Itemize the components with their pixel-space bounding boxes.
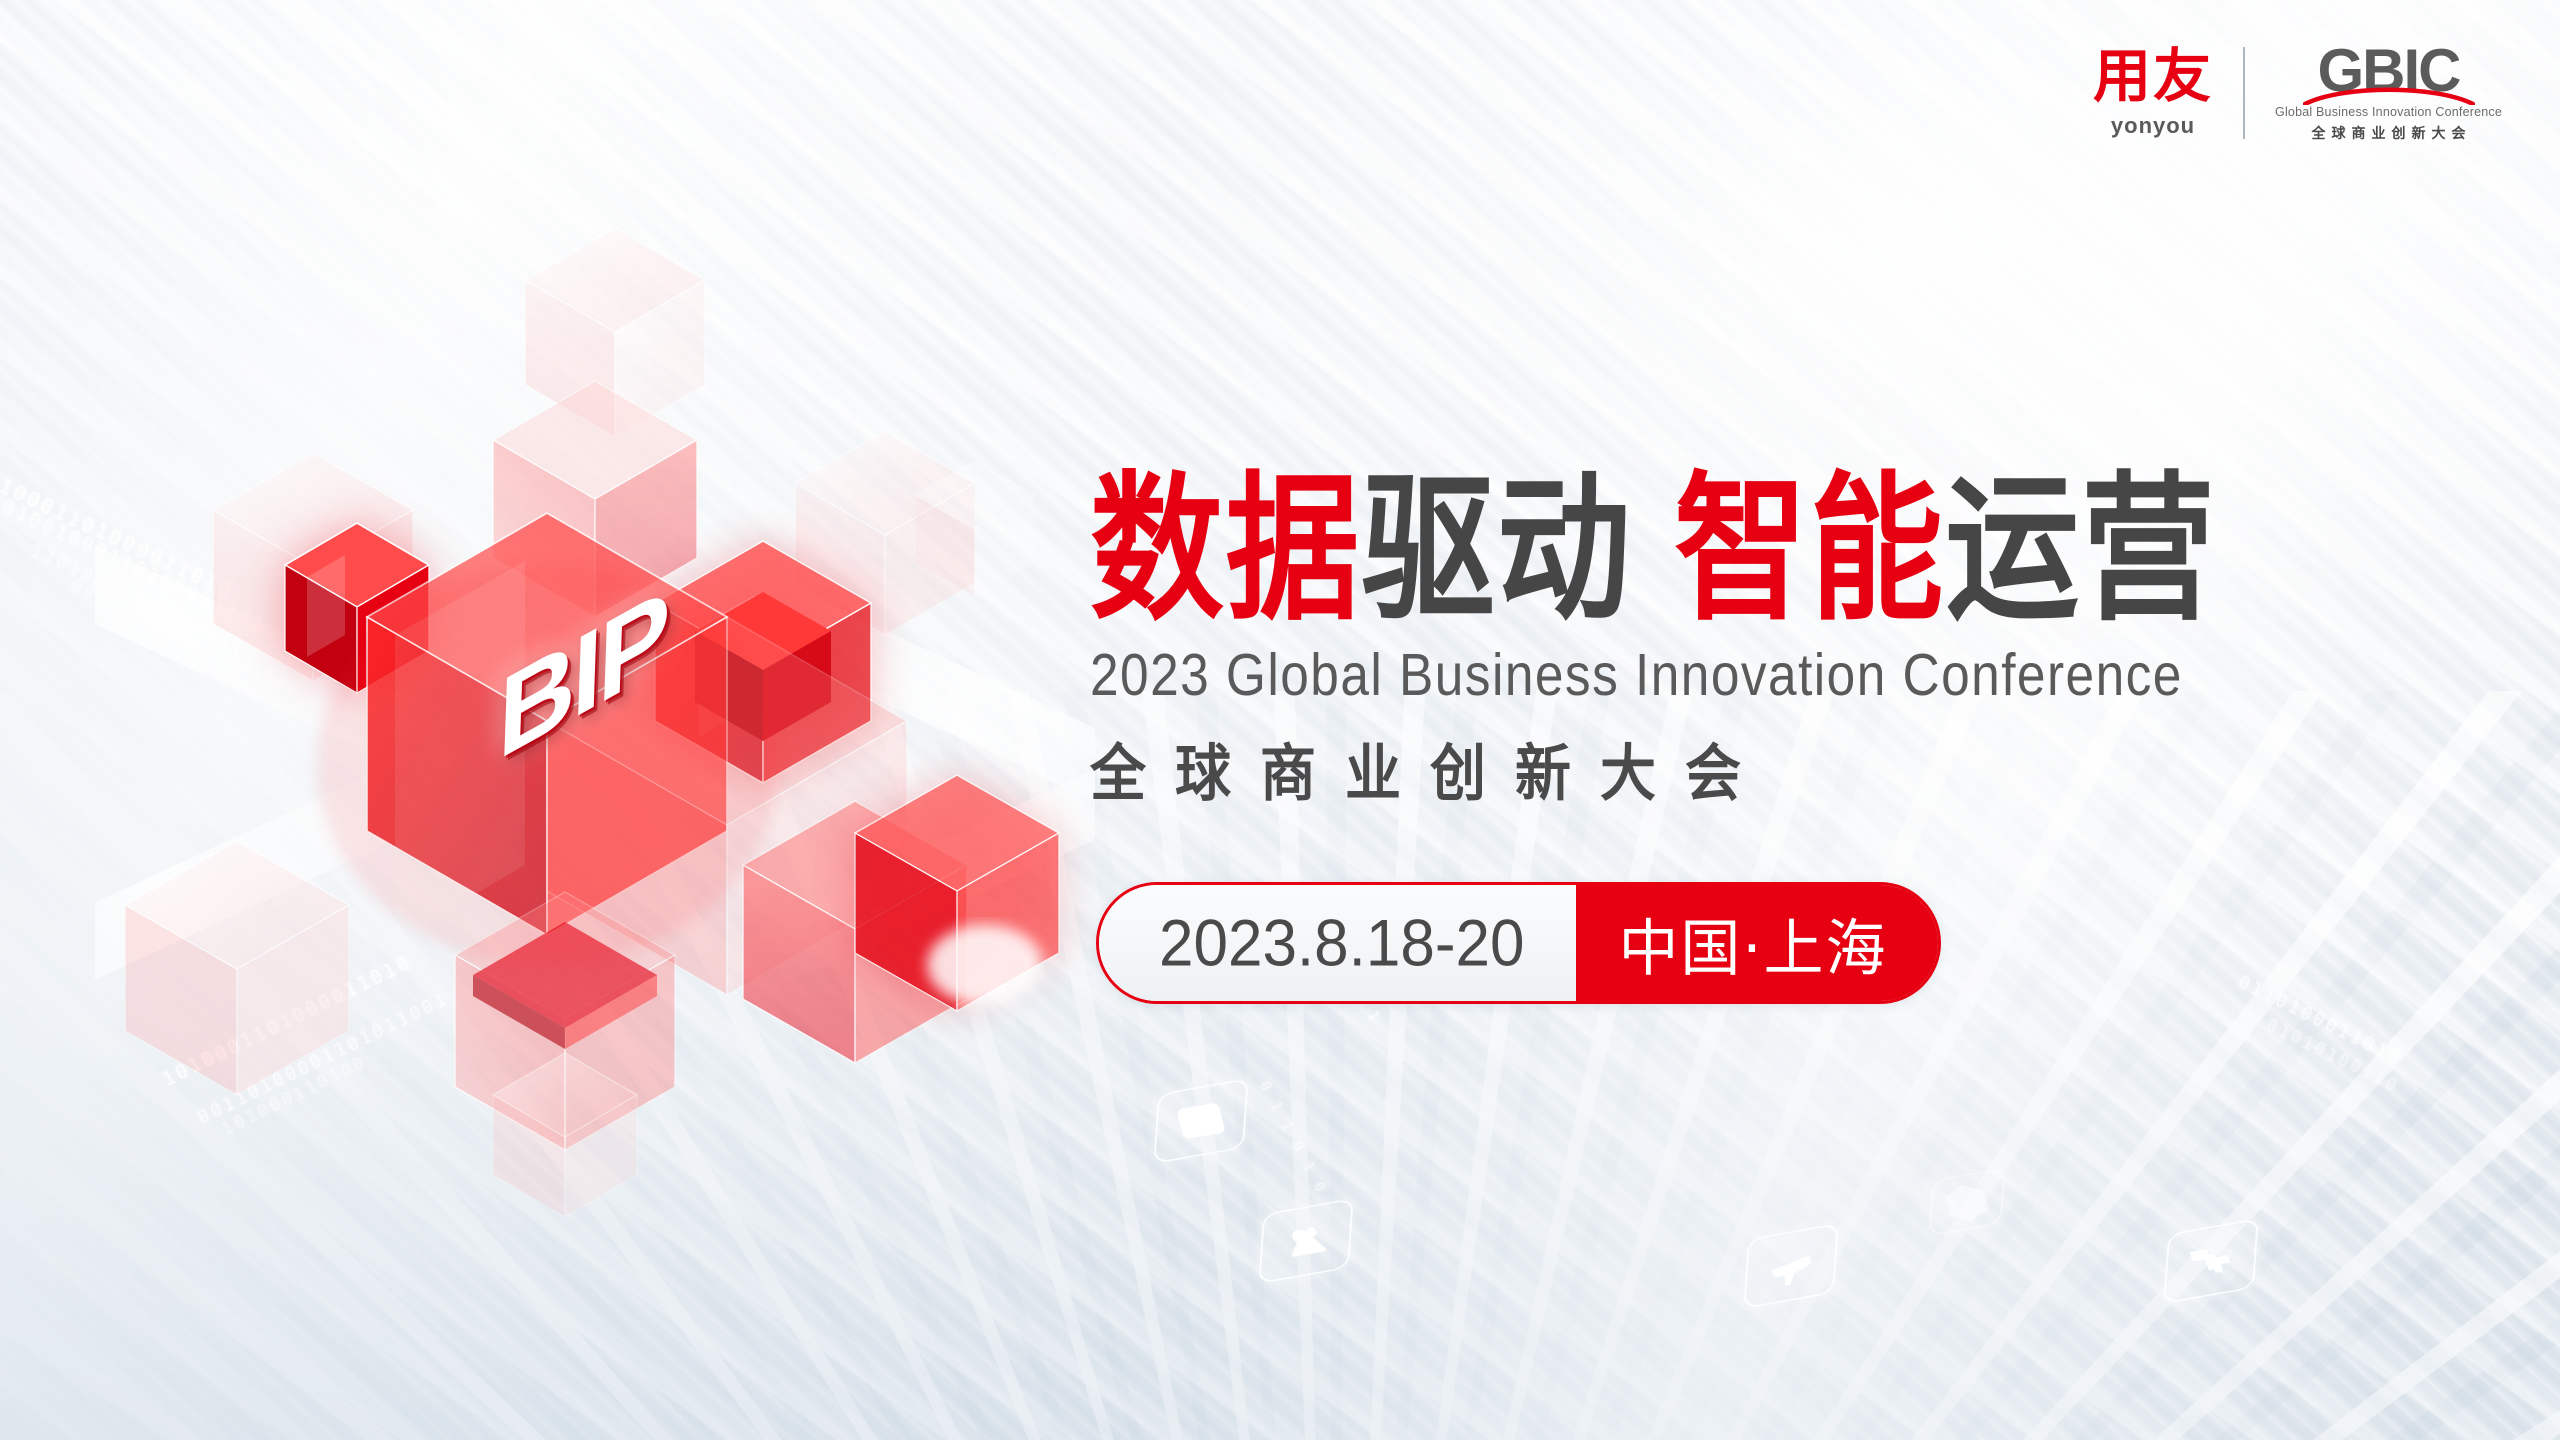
gbic-chinese-name: 全球商业创新大会	[2306, 123, 2472, 143]
yonyou-logo: 用友 yonyou	[2093, 47, 2243, 139]
yonyou-chinese-wordmark: 用友	[2093, 47, 2213, 105]
event-date: 2023.8.18-20	[1099, 882, 1576, 1004]
logo-lockup: 用友 yonyou GBIC Global Business Innovatio…	[2093, 42, 2502, 143]
subtitle-chinese: 全球商业创新大会	[1090, 724, 2510, 813]
logo-divider	[2243, 47, 2245, 139]
gbic-swoosh-icon	[2303, 87, 2475, 103]
event-info-pill: 2023.8.18-20 中国·上海	[1096, 882, 1941, 1004]
headline-part-2: 驱动	[1361, 457, 1632, 642]
page-title: 数据驱动智能运营	[1090, 470, 2496, 629]
bip-snowflake-artwork: BIP	[95, 165, 1095, 1225]
event-location: 中国·上海	[1576, 884, 1937, 1002]
poster-canvas: 1010001101000011010 01001000110100001101…	[0, 0, 2560, 1440]
gbic-logo: GBIC Global Business Innovation Conferen…	[2245, 42, 2502, 143]
headline-part-1: 数据	[1090, 457, 1361, 642]
headline-part-4: 运营	[1945, 457, 2216, 642]
yonyou-latin-wordmark: yonyou	[2111, 113, 2195, 139]
headline-part-3: 智能	[1674, 457, 1945, 642]
headline-block: 数据驱动智能运营 2023 Global Business Innovation…	[1090, 470, 2510, 805]
gbic-english-name: Global Business Innovation Conference	[2275, 105, 2502, 119]
subtitle-english: 2023 Global Business Innovation Conferen…	[1090, 641, 2467, 709]
